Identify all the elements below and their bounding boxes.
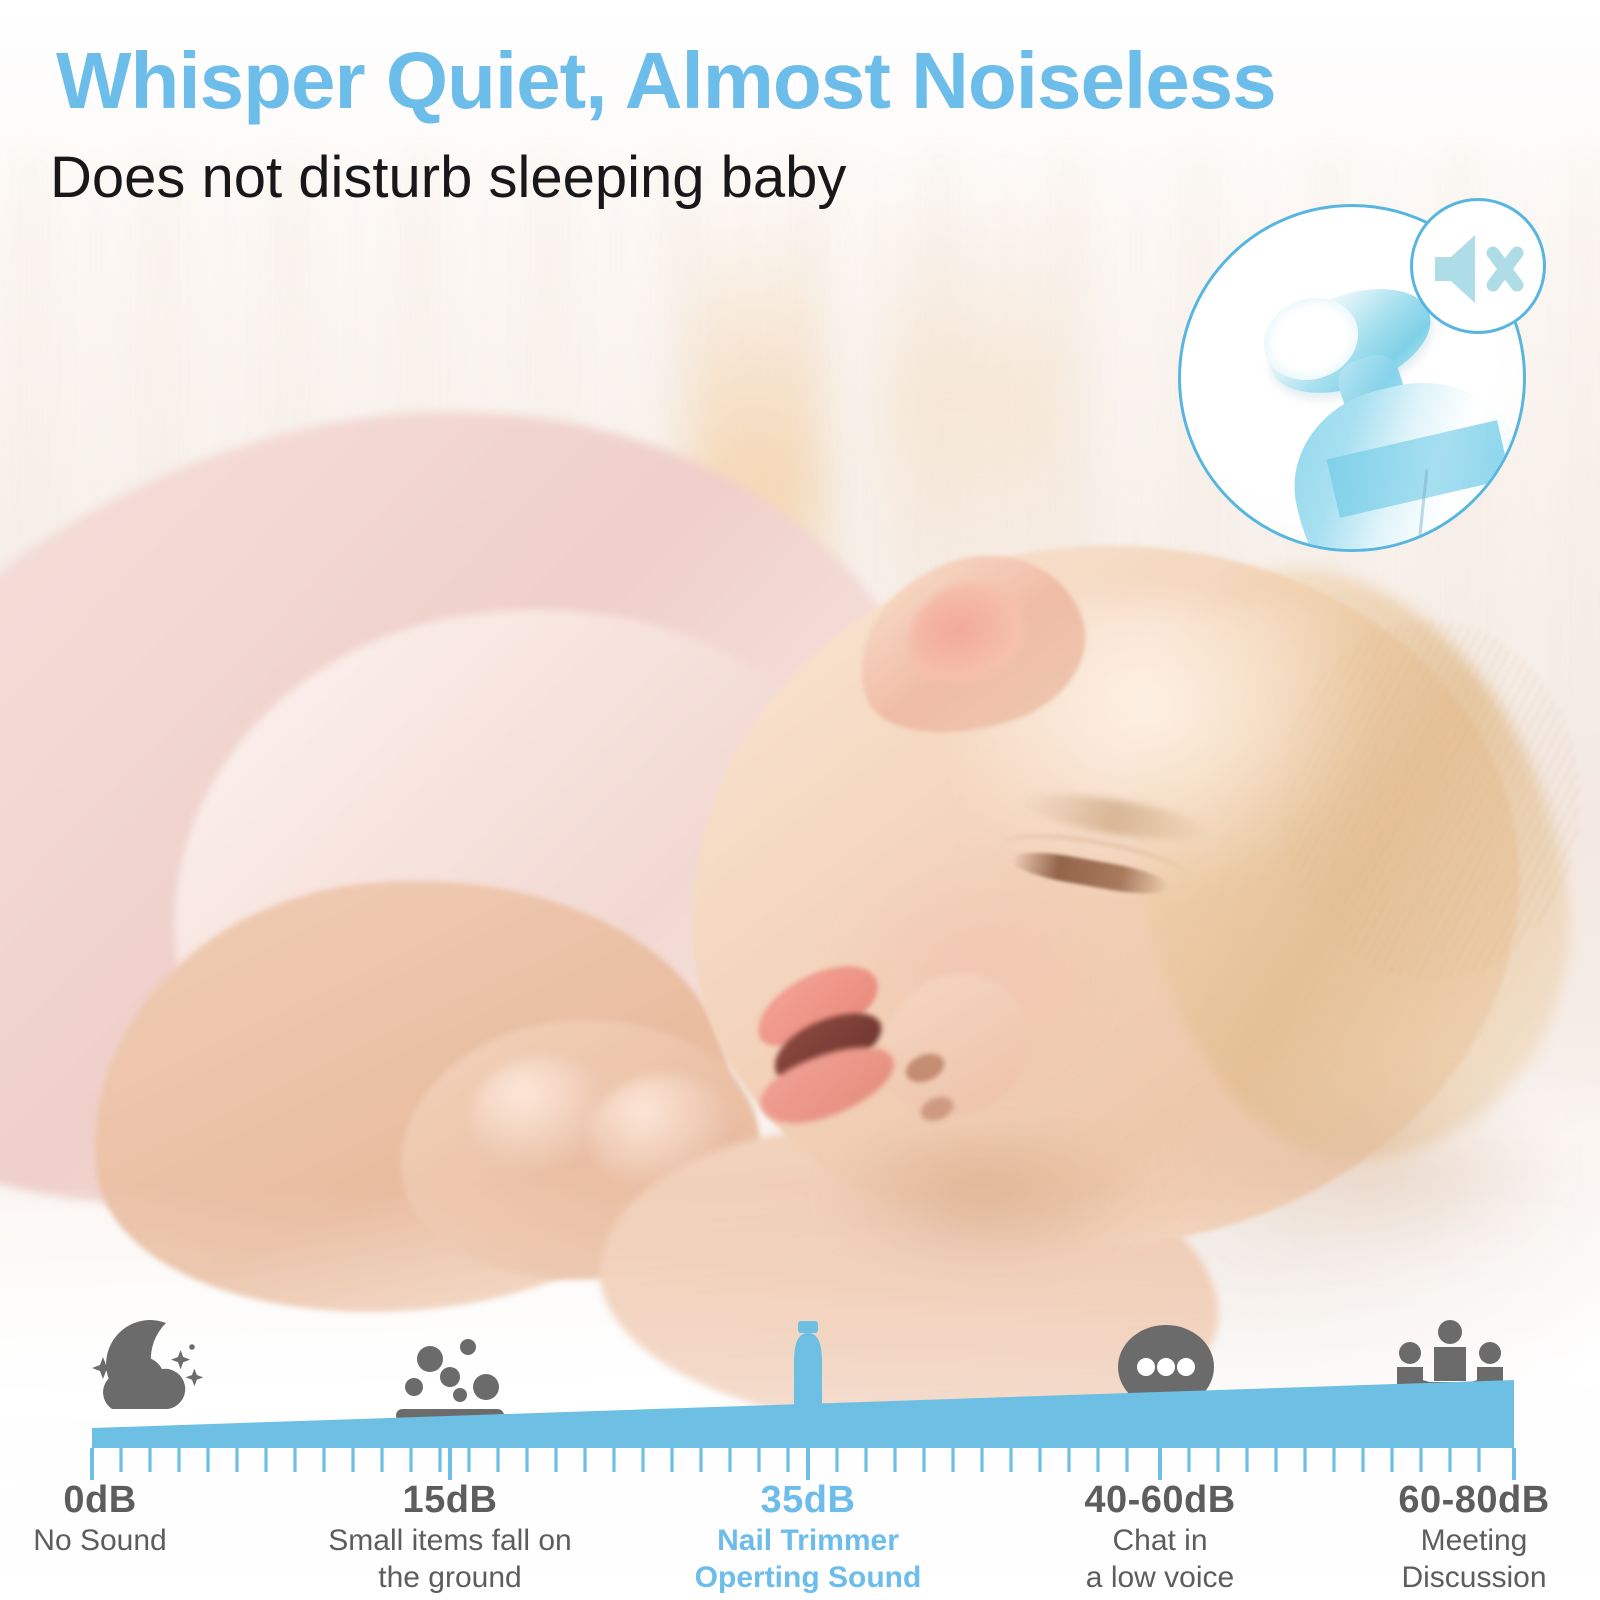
scale-label-2: 35dB Nail Trimmer Operting Sound	[638, 1478, 978, 1596]
scale-desc-3b: a low voice	[990, 1561, 1330, 1596]
scale-desc-0a: No Sound	[0, 1524, 270, 1559]
scale-db-1: 15dB	[280, 1478, 620, 1522]
scale-label-row: 0dB No Sound 15dB Small items fall on th…	[0, 1478, 1600, 1598]
promo-image: Whisper Quiet, Almost Noiseless Does not…	[0, 0, 1600, 1600]
ruler-wedge	[92, 1380, 1514, 1448]
scale-db-0: 0dB	[0, 1478, 270, 1522]
scale-desc-4b: Discussion	[1304, 1561, 1600, 1596]
ruler-minor-ticks	[121, 1448, 1479, 1472]
scale-desc-2b: Operting Sound	[638, 1561, 978, 1596]
scale-label-4: 60-80dB Meeting Discussion	[1304, 1478, 1600, 1596]
scale-label-1: 15dB Small items fall on the ground	[280, 1478, 620, 1596]
scale-desc-2a: Nail Trimmer	[638, 1524, 978, 1559]
decibel-scale: 0dB No Sound 15dB Small items fall on th…	[0, 1280, 1600, 1600]
mute-badge	[1410, 198, 1546, 334]
decibel-ruler	[0, 1380, 1600, 1480]
scale-label-0: 0dB No Sound	[0, 1478, 270, 1559]
scale-desc-1b: the ground	[280, 1561, 620, 1596]
ruler-major-ticks	[92, 1448, 1514, 1480]
scale-desc-1a: Small items fall on	[280, 1524, 620, 1559]
scale-label-3: 40-60dB Chat in a low voice	[990, 1478, 1330, 1596]
scale-db-3: 40-60dB	[990, 1478, 1330, 1522]
scale-desc-4a: Meeting	[1304, 1524, 1600, 1559]
speaker-mute-icon	[1431, 229, 1531, 309]
product-inset	[1170, 196, 1550, 586]
scale-desc-3a: Chat in	[990, 1524, 1330, 1559]
scale-db-4: 60-80dB	[1304, 1478, 1600, 1522]
scale-db-2: 35dB	[638, 1478, 978, 1522]
headline: Whisper Quiet, Almost Noiseless	[56, 40, 1556, 122]
subheadline: Does not disturb sleeping baby	[50, 148, 1250, 209]
